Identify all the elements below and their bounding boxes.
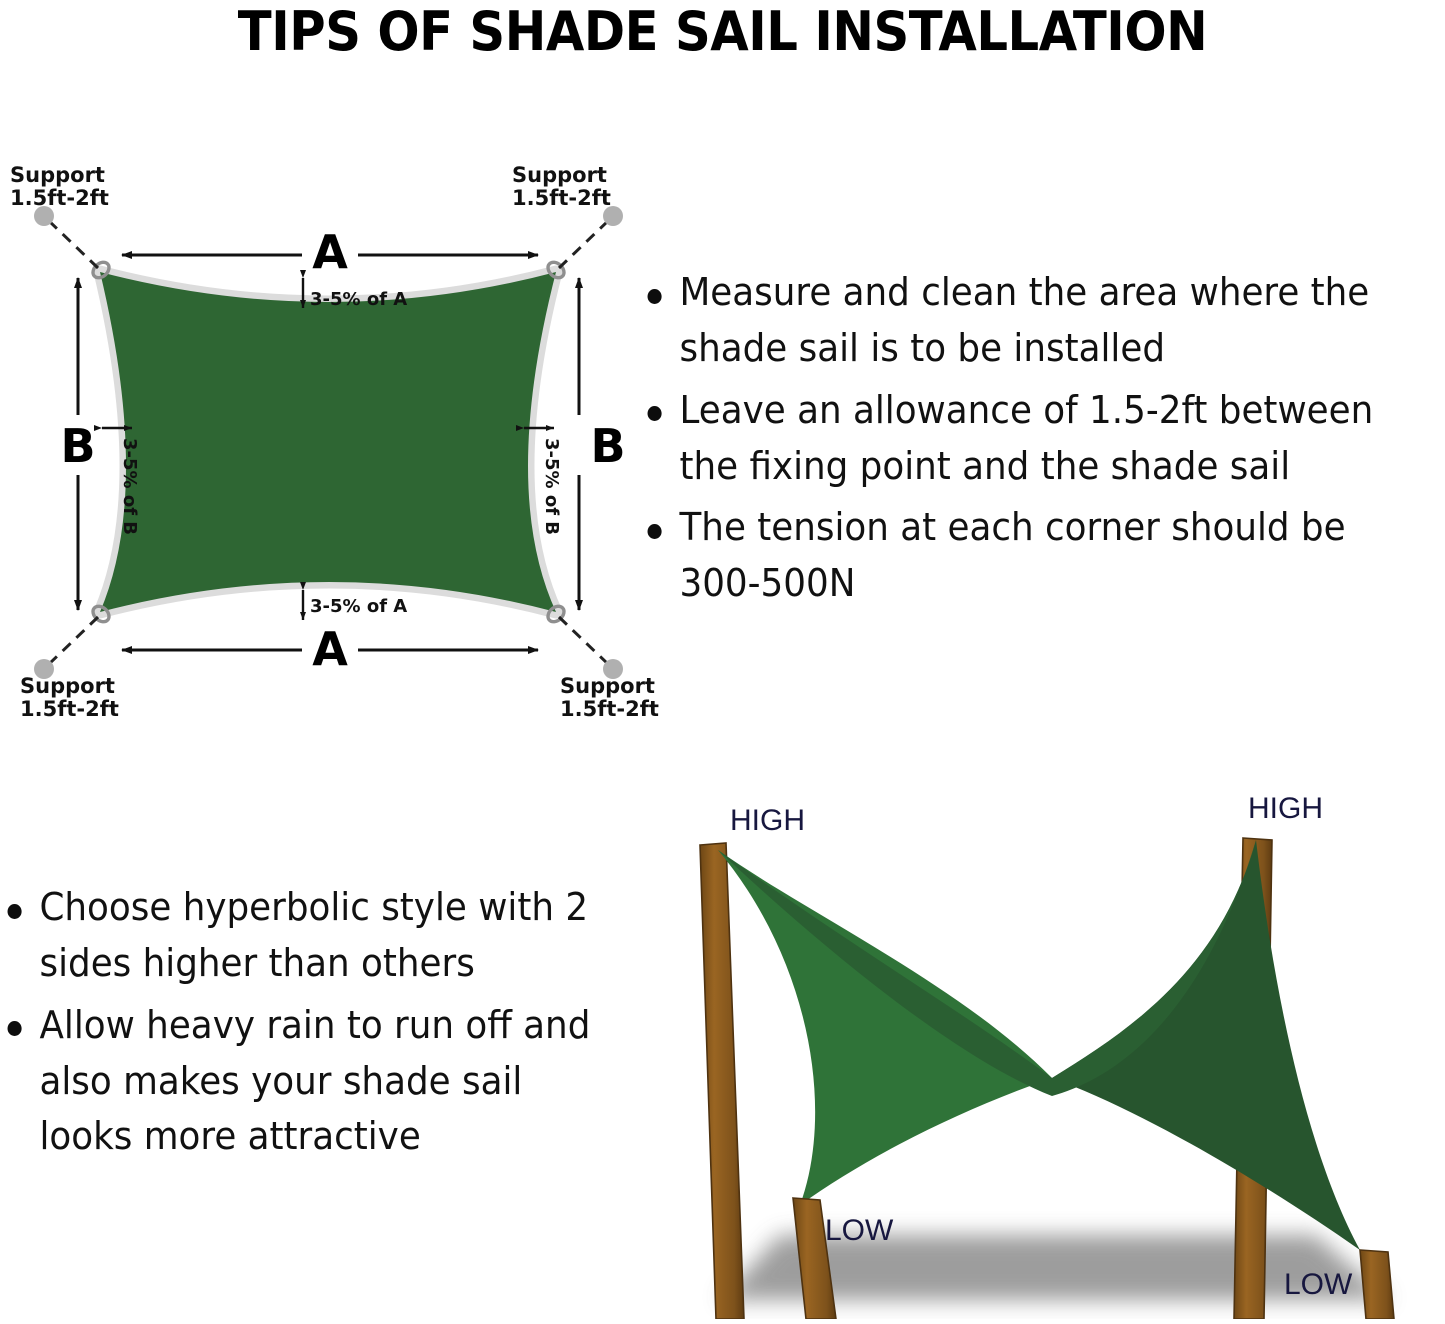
dimension-right-B: B <box>579 278 626 610</box>
curve-depth-label-right: 3-5% of B <box>541 438 562 535</box>
page-title: TIPS OF SHADE SAIL INSTALLATION <box>58 0 1387 62</box>
hyperbolic-diagram-svg: HIGH HIGH LOW LOW <box>660 780 1445 1319</box>
bullet-dot-icon <box>648 524 662 539</box>
list-item-text: Choose hyperbolic style with 2 sides hig… <box>39 885 588 985</box>
post-high-left <box>700 843 744 1319</box>
dimension-left-B: B <box>60 278 95 610</box>
rectangular-sail-diagram: Support 1.5ft-2ft Support 1.5ft-2ft Supp… <box>0 160 660 740</box>
curve-depth-top: 3-5% of A <box>303 278 407 310</box>
curve-depth-label-bottom: 3-5% of A <box>310 596 407 617</box>
list-item-text: Measure and clean the area where the sha… <box>679 270 1369 370</box>
support-label-line2: 1.5ft-2ft <box>10 186 109 210</box>
installation-tips-list: Measure and clean the area where the sha… <box>640 265 1445 665</box>
label-high-right: HIGH <box>1248 792 1323 825</box>
tips-bullet-list: Measure and clean the area where the sha… <box>640 265 1445 612</box>
curve-depth-left: 3-5% of B <box>102 428 140 535</box>
dimension-top-A: A <box>122 225 538 279</box>
dimension-bottom-A: A <box>122 622 538 676</box>
support-label-top-right: Support 1.5ft-2ft <box>512 163 611 210</box>
support-label-top-left: Support 1.5ft-2ft <box>10 163 109 210</box>
bullet-dot-icon <box>8 904 22 919</box>
support-label-line2: 1.5ft-2ft <box>20 697 119 721</box>
dimension-label-B-right: B <box>590 419 625 473</box>
curve-depth-bottom: 3-5% of A <box>303 590 407 620</box>
rect-diagram-svg: Support 1.5ft-2ft Support 1.5ft-2ft Supp… <box>0 160 660 740</box>
support-label-bottom-left: Support 1.5ft-2ft <box>20 674 119 721</box>
support-label-line2: 1.5ft-2ft <box>512 186 611 210</box>
curve-depth-label-top: 3-5% of A <box>310 289 407 310</box>
curve-depth-label-left: 3-5% of B <box>119 438 140 535</box>
list-item-text: Allow heavy rain to run off and also mak… <box>39 1003 590 1159</box>
bullet-dot-icon <box>648 289 662 304</box>
post-low-right <box>1360 1250 1394 1319</box>
support-label-line2: 1.5ft-2ft <box>560 697 659 721</box>
bullet-dot-icon <box>8 1021 22 1036</box>
dimension-label-A-bottom: A <box>312 622 348 676</box>
list-item: The tension at each corner should be 300… <box>640 500 1397 612</box>
hyperbolic-bullet-list: Choose hyperbolic style with 2 sides hig… <box>0 880 640 1165</box>
list-item: Leave an allowance of 1.5-2ft between th… <box>640 383 1397 495</box>
support-label-bottom-right: Support 1.5ft-2ft <box>560 674 659 721</box>
hyperbolic-style-tips-list: Choose hyperbolic style with 2 sides hig… <box>0 880 640 1210</box>
list-item: Measure and clean the area where the sha… <box>640 265 1397 377</box>
list-item: Choose hyperbolic style with 2 sides hig… <box>0 880 602 992</box>
sail-lobe-left <box>718 850 1052 1205</box>
label-low-right: LOW <box>1284 1268 1353 1301</box>
bullet-dot-icon <box>648 406 662 421</box>
label-low-left: LOW <box>825 1214 894 1247</box>
list-item-text: The tension at each corner should be 300… <box>679 505 1345 605</box>
hyperbolic-sail-diagram: HIGH HIGH LOW LOW <box>660 780 1445 1319</box>
list-item-text: Leave an allowance of 1.5-2ft between th… <box>679 388 1373 488</box>
dimension-label-A-top: A <box>312 225 348 279</box>
support-label-line1: Support <box>20 674 115 698</box>
sail-lobe-right <box>1052 840 1360 1250</box>
dimension-label-B-left: B <box>60 419 95 473</box>
support-label-line1: Support <box>512 163 607 187</box>
label-high-left: HIGH <box>730 804 805 837</box>
support-label-line1: Support <box>560 674 655 698</box>
list-item: Allow heavy rain to run off and also mak… <box>0 998 602 1166</box>
support-label-line1: Support <box>10 163 105 187</box>
sail-fabric <box>100 272 556 612</box>
